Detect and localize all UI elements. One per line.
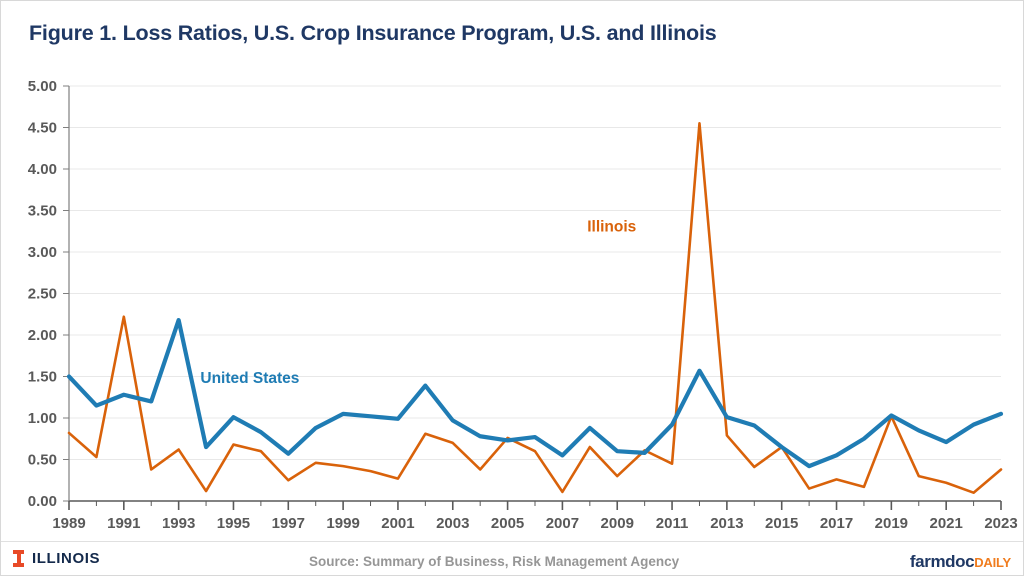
x-tick-label: 2023 [984, 515, 1017, 532]
y-tick-label: 0.00 [28, 493, 57, 510]
y-tick-label: 0.50 [28, 452, 57, 469]
loss-ratio-line-chart: 0.000.501.001.502.002.503.003.504.004.50… [1, 1, 1024, 541]
series-line-united-states [69, 320, 1001, 466]
x-axis-tick-labels: 1989199119931995199719992001200320052007… [52, 515, 1017, 532]
x-tick-label: 2001 [381, 515, 414, 532]
x-tick-label: 2007 [546, 515, 579, 532]
x-tick-label: 1989 [52, 515, 85, 532]
x-tick-label: 1991 [107, 515, 140, 532]
y-tick-label: 3.50 [28, 203, 57, 220]
chart-plot-area: 0.000.501.001.502.002.503.003.504.004.50… [1, 1, 1024, 541]
y-tick-label: 1.00 [28, 410, 57, 427]
x-tick-label: 2011 [656, 515, 689, 532]
figure-page: Figure 1. Loss Ratios, U.S. Crop Insuran… [0, 0, 1024, 576]
series-label-illinois: Illinois [587, 218, 636, 235]
x-tick-label: 1997 [272, 515, 305, 532]
x-tick-label: 2005 [491, 515, 524, 532]
farmdoc-daily-logo: farmdocDAILY [910, 552, 1011, 572]
gridlines [69, 86, 1001, 460]
y-tick-label: 1.50 [28, 369, 57, 386]
farmdoc-daily-suffix: DAILY [974, 555, 1011, 570]
y-tick-label: 2.00 [28, 327, 57, 344]
x-tick-label: 2021 [929, 515, 962, 532]
x-tick-label: 1999 [326, 515, 359, 532]
x-tick-label: 1995 [217, 515, 250, 532]
source-note: Source: Summary of Business, Risk Manage… [309, 554, 679, 569]
y-tick-label: 4.50 [28, 120, 57, 137]
series-lines [69, 123, 1001, 492]
illinois-block-i-icon [13, 550, 24, 567]
x-tick-label: 2015 [765, 515, 798, 532]
x-tick-label: 2003 [436, 515, 469, 532]
x-tick-label: 2019 [875, 515, 908, 532]
x-tick-label: 2013 [710, 515, 743, 532]
y-tick-label: 5.00 [28, 78, 57, 95]
y-axis-tick-labels: 0.000.501.001.502.002.503.003.504.004.50… [28, 78, 57, 510]
illinois-wordmark: ILLINOIS [32, 550, 100, 567]
illinois-logo: ILLINOIS [13, 550, 100, 567]
farmdoc-wordmark: farmdoc [910, 552, 974, 571]
y-tick-label: 4.00 [28, 161, 57, 178]
y-axis-tick-marks [63, 86, 69, 501]
x-tick-label: 1993 [162, 515, 195, 532]
x-tick-label: 2017 [820, 515, 853, 532]
series-inline-labels: United StatesIllinois [200, 218, 636, 387]
y-tick-label: 2.50 [28, 286, 57, 303]
figure-footer: ILLINOIS Source: Summary of Business, Ri… [1, 541, 1024, 576]
x-tick-label: 2009 [601, 515, 634, 532]
series-label-united-states: United States [200, 370, 299, 387]
x-axis-tick-marks [69, 501, 1001, 510]
y-tick-label: 3.00 [28, 244, 57, 261]
